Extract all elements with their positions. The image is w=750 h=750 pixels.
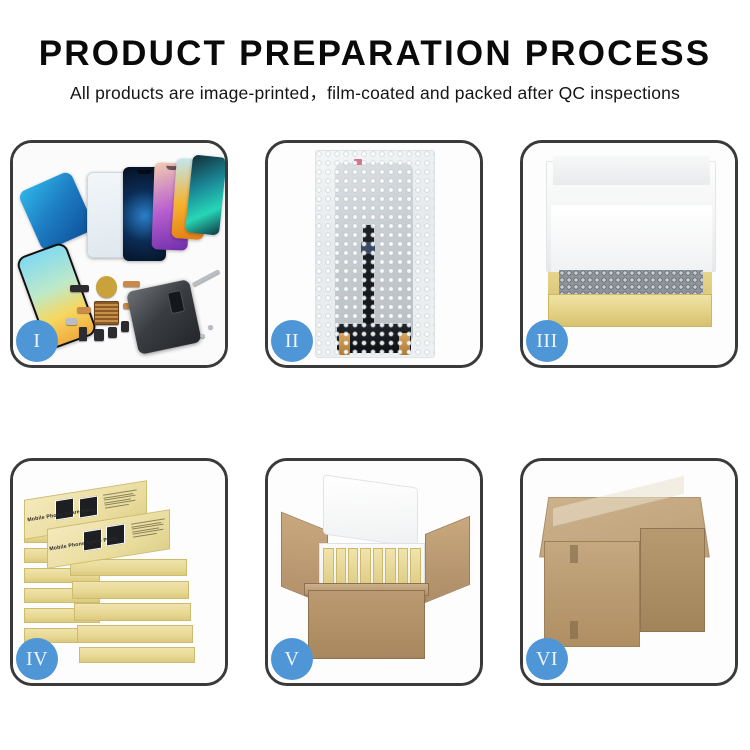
carton-seam-lower [570, 621, 578, 639]
page-subtitle: All products are image-printed，film-coat… [0, 73, 750, 103]
step-badge-3: III [526, 320, 568, 362]
bubble-texture [316, 151, 435, 358]
step-badge-2: II [271, 320, 313, 362]
carton-seam-upper [570, 545, 578, 563]
step-badge-6: VI [526, 638, 568, 680]
panel-bubble-wrapped-lcd: II [265, 140, 483, 368]
panel-grid: I II [10, 140, 738, 686]
box-lid-flap [553, 156, 710, 185]
part-module-3 [108, 327, 116, 338]
part-display-teal [185, 155, 225, 236]
panel-sealed-carton: VI [520, 458, 738, 686]
box-yellow-front [548, 294, 711, 327]
bubble-wrap-bag [315, 150, 436, 359]
part-flex-cable-1 [123, 281, 140, 288]
foam-white-sheet [551, 205, 712, 274]
part-module-2 [94, 329, 105, 340]
part-module-4 [121, 321, 128, 332]
part-black-bar [70, 285, 89, 292]
header: PRODUCT PREPARATION PROCESS All products… [0, 0, 750, 103]
panel-stacked-retail-boxes: Mobile Phone Spare Parts Mobile Phone Sp… [10, 458, 228, 686]
foam-case-lid [323, 474, 418, 547]
part-flex-cable-3 [77, 307, 92, 313]
carton-side-face [640, 528, 706, 632]
part-rear-housing [126, 279, 202, 355]
part-module-1 [79, 327, 87, 340]
step-badge-4: IV [16, 638, 58, 680]
part-bracket [66, 318, 77, 325]
carton-flap-right [425, 516, 470, 603]
carton-front-face [544, 541, 639, 648]
part-pcb-grid [94, 301, 119, 325]
panel-parts-overview: I [10, 140, 228, 368]
carton-body [308, 590, 425, 659]
page-title: PRODUCT PREPARATION PROCESS [0, 0, 750, 73]
foam-gray-padding [559, 270, 703, 297]
product-preparation-infographic: PRODUCT PREPARATION PROCESS All products… [0, 0, 750, 750]
panel-open-carton: V [265, 458, 483, 686]
step-badge-1: I [16, 320, 58, 362]
step-badge-5: V [271, 638, 313, 680]
panel-foam-inner-box: III [520, 140, 738, 368]
